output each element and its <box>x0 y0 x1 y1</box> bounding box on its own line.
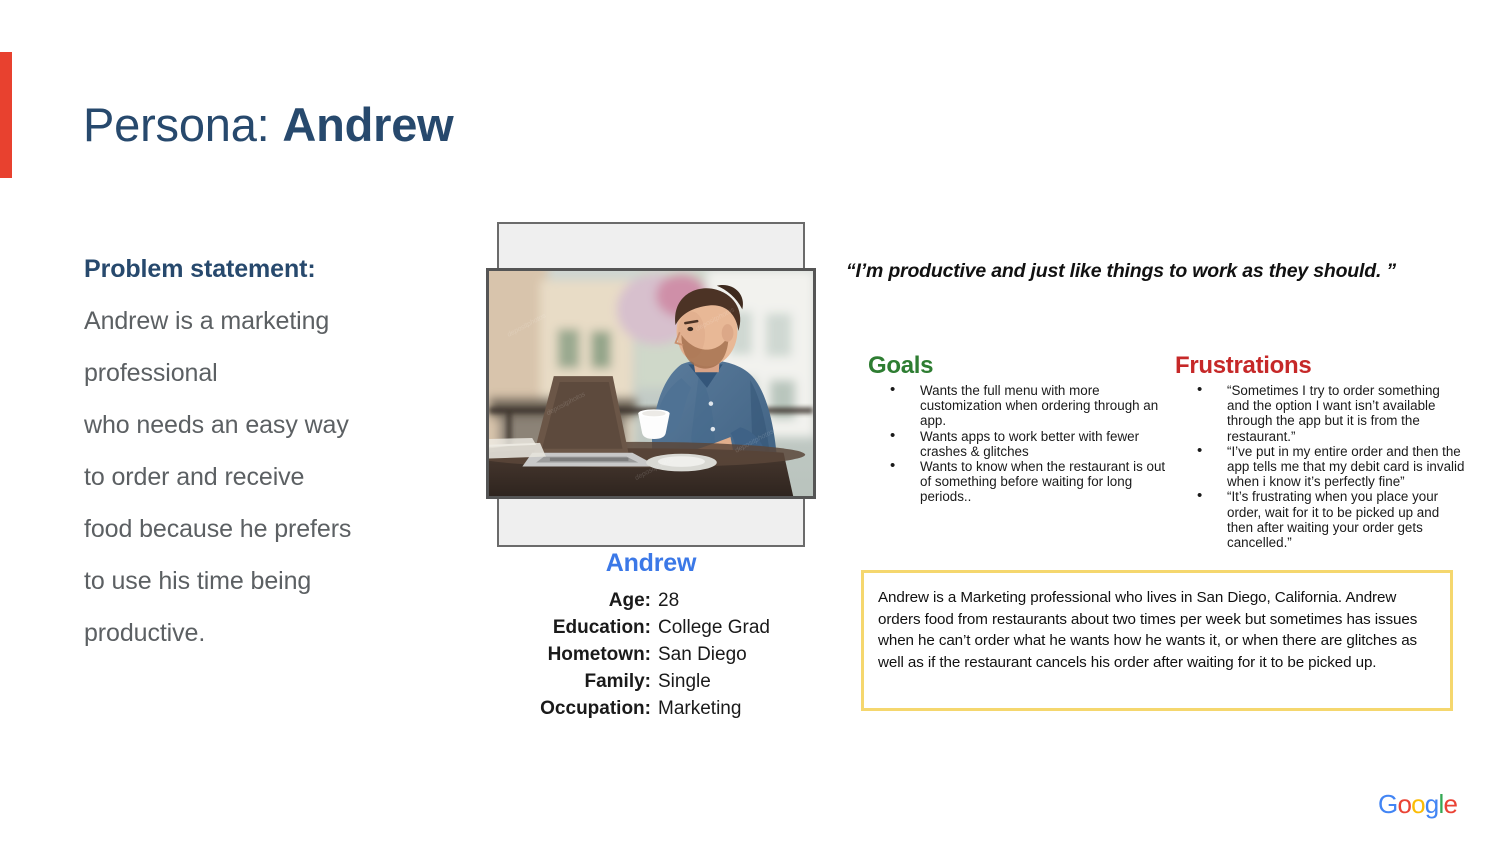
detail-value: San Diego <box>658 643 826 670</box>
detail-label: Hometown: <box>486 643 658 670</box>
list-item: “It’s frustrating when you place your or… <box>1175 489 1465 550</box>
list-item: Wants the full menu with more customizat… <box>868 383 1168 429</box>
problem-statement-line: productive. <box>84 607 454 659</box>
problem-statement-line: to use his time being <box>84 555 454 607</box>
detail-value: Single <box>658 670 826 697</box>
persona-photo: depositphotos depositphotos depositphoto… <box>486 268 816 499</box>
persona-photo-block: depositphotos depositphotos depositphoto… <box>486 222 816 547</box>
detail-value: 28 <box>658 589 826 616</box>
problem-statement-line: to order and receive <box>84 451 454 503</box>
page-title: Persona: Andrew <box>83 95 454 155</box>
page-title-name: Andrew <box>282 98 453 151</box>
table-row: Hometown: San Diego <box>486 643 826 670</box>
persona-slide: Persona: Andrew Problem statement: Andre… <box>0 0 1500 843</box>
frustrations-section: Frustrations “Sometimes I try to order s… <box>1175 352 1465 550</box>
detail-value: College Grad <box>658 616 826 643</box>
persona-photo-image: depositphotos depositphotos depositphoto… <box>489 271 813 496</box>
frustrations-list: “Sometimes I try to order something and … <box>1175 383 1465 550</box>
detail-value: Marketing <box>658 697 826 724</box>
goals-list: Wants the full menu with more customizat… <box>868 383 1168 505</box>
goals-heading: Goals <box>868 352 1168 380</box>
persona-name: Andrew <box>486 549 816 578</box>
table-row: Age: 28 <box>486 589 826 616</box>
persona-details-table: Age: 28 Education: College Grad Hometown… <box>486 589 826 724</box>
table-row: Occupation: Marketing <box>486 697 826 724</box>
table-row: Family: Single <box>486 670 826 697</box>
list-item: “Sometimes I try to order something and … <box>1175 383 1465 444</box>
list-item: “I’ve put in my entire order and then th… <box>1175 444 1465 490</box>
frustrations-heading: Frustrations <box>1175 352 1465 380</box>
problem-statement-line: food because he prefers <box>84 503 454 555</box>
problem-statement-line: Andrew is a marketing <box>84 295 454 347</box>
persona-quote: “I’m productive and just like things to … <box>846 260 1486 283</box>
list-item: Wants apps to work better with fewer cra… <box>868 429 1168 459</box>
problem-statement-line: professional <box>84 347 454 399</box>
google-logo-wordmark: Google <box>1378 790 1462 820</box>
goals-section: Goals Wants the full menu with more cust… <box>868 352 1168 505</box>
detail-label: Occupation: <box>486 697 658 724</box>
problem-statement-line: who needs an easy way <box>84 399 454 451</box>
persona-bio-text: Andrew is a Marketing professional who l… <box>878 587 1434 673</box>
detail-label: Education: <box>486 616 658 643</box>
google-logo: Google <box>1378 790 1462 820</box>
persona-bio-box: Andrew is a Marketing professional who l… <box>861 570 1453 711</box>
page-title-prefix: Persona: <box>83 98 282 151</box>
svg-text:Google: Google <box>1378 790 1457 819</box>
table-row: Education: College Grad <box>486 616 826 643</box>
detail-label: Family: <box>486 670 658 697</box>
accent-bar <box>0 52 12 178</box>
list-item: Wants to know when the restaurant is out… <box>868 459 1168 505</box>
problem-statement-heading: Problem statement: <box>84 243 454 295</box>
detail-label: Age: <box>486 589 658 616</box>
problem-statement-block: Problem statement: Andrew is a marketing… <box>84 243 454 659</box>
